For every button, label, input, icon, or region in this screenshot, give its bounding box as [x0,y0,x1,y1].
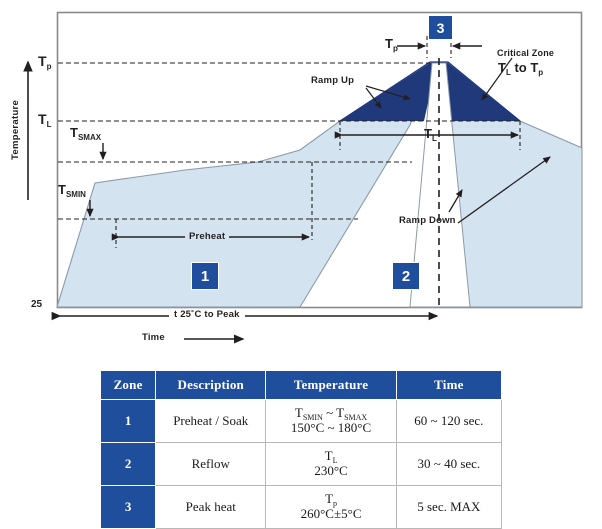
cell-zone: 1 [101,400,156,443]
cell-temperature: Tp 260°C±5°C [266,486,396,529]
reflow-profile-chart: Temperature Tp TL TSMAX TSMIN 25 Tp TL R… [0,0,602,360]
temp-mid: ~ [323,405,336,420]
cell-temperature: TL 230°C [266,443,396,486]
cell-description: Peak heat [156,486,266,529]
cell-zone: 2 [101,443,156,486]
cell-time: 30 ~ 40 sec. [396,443,501,486]
temp-a: T [325,491,333,506]
temp-a-sub: SMIN [303,413,323,422]
zone-spec-table-wrapper: Zone Description Temperature Time 1 Preh… [100,370,502,518]
cell-time: 60 ~ 120 sec. [396,400,501,443]
cell-time: 5 sec. MAX [396,486,501,529]
temp-a: T [325,448,333,463]
temp-b-sub: SMAX [344,413,367,422]
temp-a: T [295,405,303,420]
temp-a-sub: L [333,456,338,465]
cell-description: Preheat / Soak [156,400,266,443]
col-header-zone: Zone [101,371,156,400]
cell-temp-line1: Tp [269,492,392,507]
cell-temp-line2: 260°C±5°C [269,507,392,522]
table-header-row: Zone Description Temperature Time [101,371,502,400]
temp-a-sub: p [333,499,337,508]
table-row: 1 Preheat / Soak TSMIN ~ TSMAX 150°C ~ 1… [101,400,502,443]
zone-spec-table: Zone Description Temperature Time 1 Preh… [100,370,502,529]
chart-svg [0,0,602,360]
reflow-profile-figure: Temperature Tp TL TSMAX TSMIN 25 Tp TL R… [0,0,602,525]
table-row: 3 Peak heat Tp 260°C±5°C 5 sec. MAX [101,486,502,529]
cell-temperature: TSMIN ~ TSMAX 150°C ~ 180°C [266,400,396,443]
temp-b: T [336,405,344,420]
cell-temp-line1: TL [269,449,392,464]
table-row: 2 Reflow TL 230°C 30 ~ 40 sec. [101,443,502,486]
cell-temp-line2: 150°C ~ 180°C [269,421,392,436]
cell-temp-line2: 230°C [269,464,392,479]
col-header-temperature: Temperature [266,371,396,400]
cell-description: Reflow [156,443,266,486]
cell-temp-line1: TSMIN ~ TSMAX [269,406,392,421]
col-header-time: Time [396,371,501,400]
cell-zone: 3 [101,486,156,529]
col-header-description: Description [156,371,266,400]
